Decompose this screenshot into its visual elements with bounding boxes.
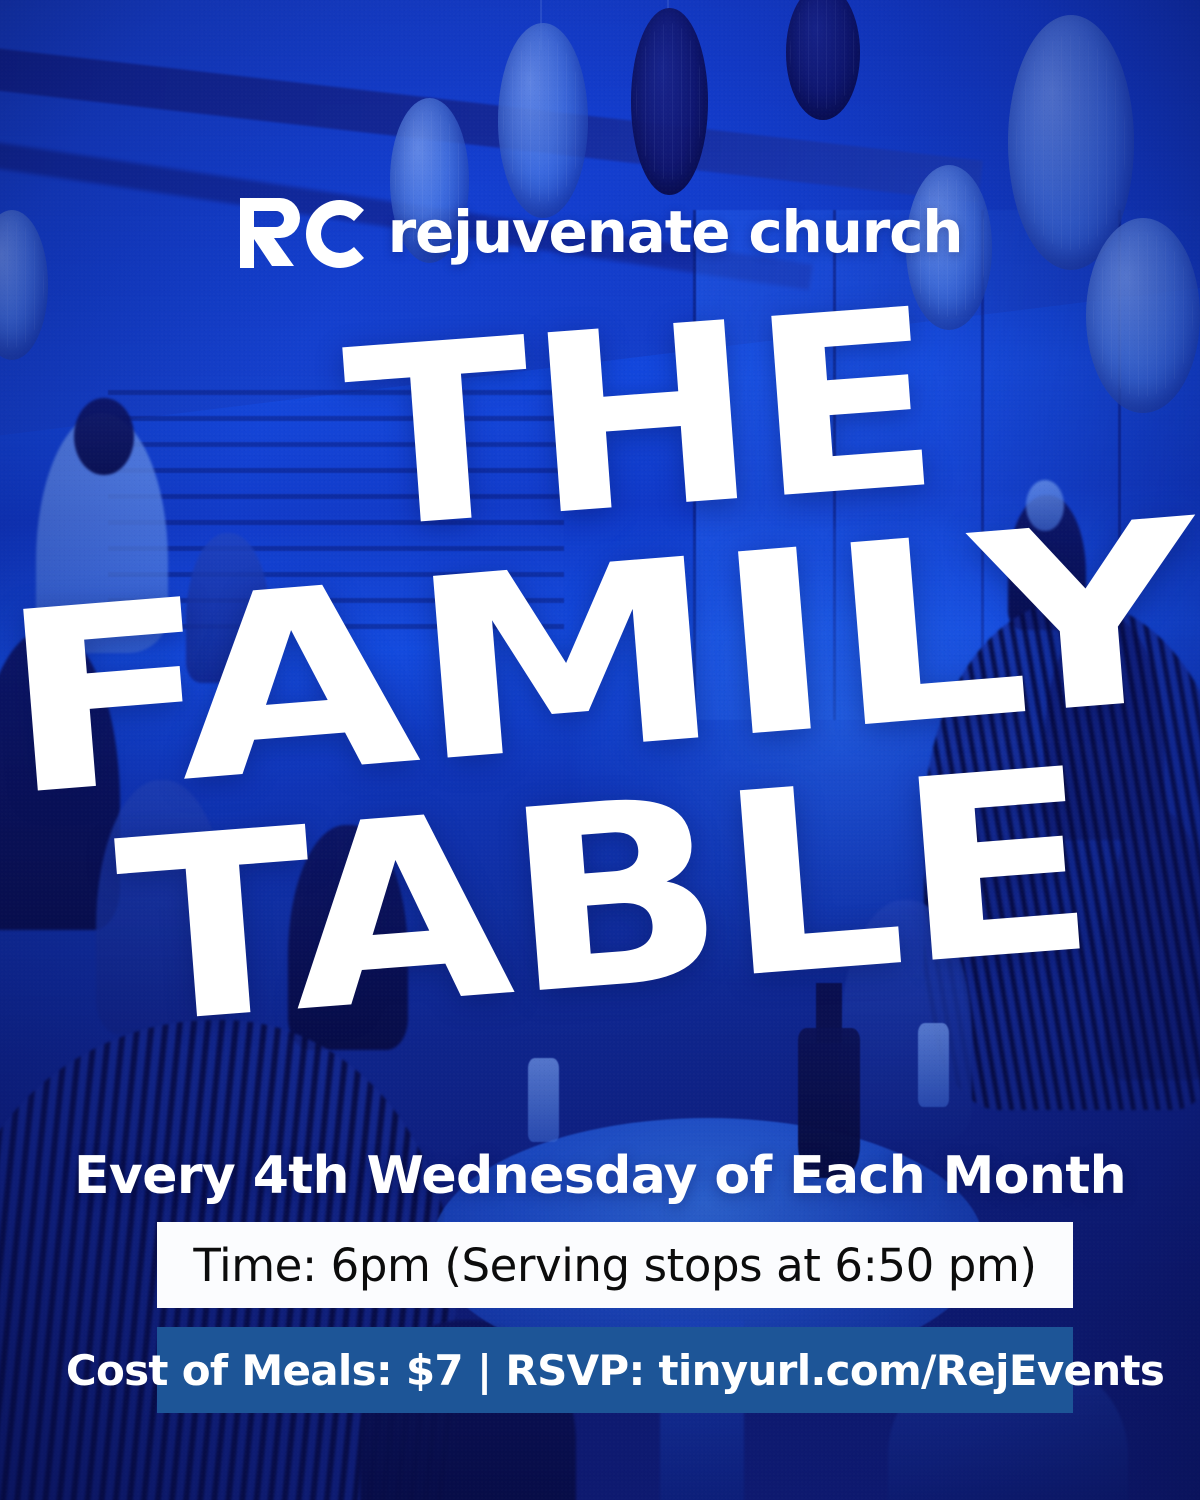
brand-lockup: rejuvenate church	[0, 196, 1200, 268]
schedule-subtitle: Every 4th Wednesday of Each Month	[0, 1146, 1200, 1206]
time-info-bar: Time: 6pm (Serving stops at 6:50 pm)	[157, 1222, 1073, 1308]
event-flyer-poster: rejuvenate church THE FAMILY TABLE Every…	[0, 0, 1200, 1500]
headline-line-table: TABLE	[0, 744, 1200, 1054]
cost-rsvp-bar[interactable]: Cost of Meals: $7 | RSVP: tinyurl.com/Re…	[157, 1327, 1073, 1413]
poster-content: rejuvenate church THE FAMILY TABLE Every…	[0, 0, 1200, 1500]
headline-block: THE FAMILY TABLE	[0, 318, 1200, 1078]
time-info-text: Time: 6pm (Serving stops at 6:50 pm)	[193, 1239, 1036, 1292]
rc-monogram-icon	[238, 196, 366, 268]
cost-rsvp-text: Cost of Meals: $7 | RSVP: tinyurl.com/Re…	[66, 1346, 1164, 1395]
brand-wordmark: rejuvenate church	[388, 203, 963, 261]
